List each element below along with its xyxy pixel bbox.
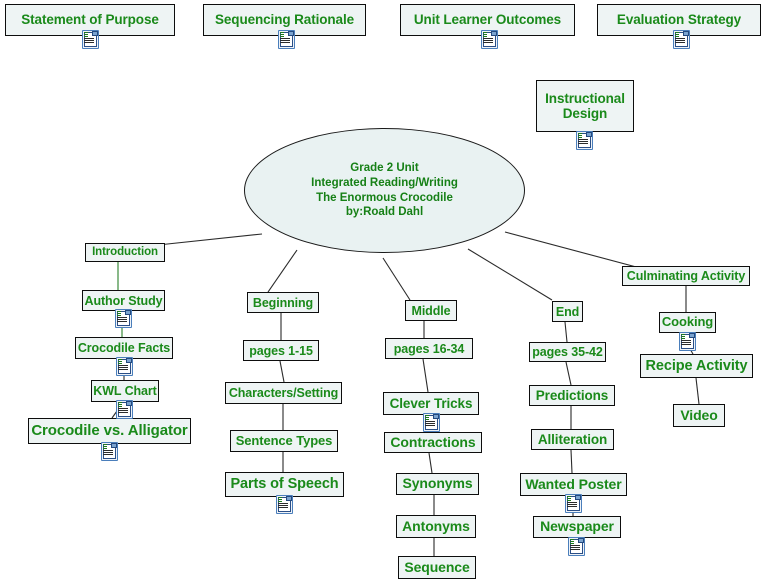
node-wanted-poster[interactable]: Wanted Poster — [520, 473, 627, 496]
node-antonyms[interactable]: Antonyms — [396, 515, 476, 538]
node-sentence-types[interactable]: Sentence Types — [230, 430, 338, 452]
document-icon[interactable] — [101, 442, 118, 461]
document-icon[interactable] — [276, 495, 293, 514]
central-topic-ellipse[interactable]: Grade 2 Unit Integrated Reading/Writing … — [244, 128, 525, 253]
node-instructional-design[interactable]: Instructional Design — [536, 80, 634, 132]
node-contractions[interactable]: Contractions — [384, 432, 482, 453]
node-crocodile-facts[interactable]: Crocodile Facts — [75, 337, 173, 359]
document-icon[interactable] — [82, 30, 99, 49]
node-newspaper[interactable]: Newspaper — [533, 516, 621, 538]
document-icon[interactable] — [679, 332, 696, 351]
document-icon[interactable] — [565, 494, 582, 513]
node-video[interactable]: Video — [673, 404, 725, 427]
document-icon[interactable] — [423, 413, 440, 432]
node-recipe-activity[interactable]: Recipe Activity — [640, 354, 753, 378]
node-end[interactable]: End — [552, 301, 583, 322]
node-cooking[interactable]: Cooking — [659, 312, 716, 333]
document-icon[interactable] — [116, 400, 133, 419]
node-pages-1-15[interactable]: pages 1-15 — [243, 340, 319, 361]
node-parts-of-speech[interactable]: Parts of Speech — [225, 472, 344, 497]
document-icon[interactable] — [481, 30, 498, 49]
node-middle[interactable]: Middle — [405, 300, 457, 321]
document-icon[interactable] — [278, 30, 295, 49]
node-predictions[interactable]: Predictions — [529, 385, 615, 406]
document-icon[interactable] — [115, 309, 132, 328]
document-icon[interactable] — [673, 30, 690, 49]
document-icon[interactable] — [116, 357, 133, 376]
node-introduction[interactable]: Introduction — [85, 243, 165, 262]
node-alliteration[interactable]: Alliteration — [531, 429, 614, 450]
node-characters-setting[interactable]: Characters/Setting — [225, 382, 342, 404]
document-icon[interactable] — [576, 131, 593, 150]
node-clever-tricks[interactable]: Clever Tricks — [383, 392, 479, 415]
node-crocodile-vs-alligator[interactable]: Crocodile vs. Alligator — [28, 418, 191, 444]
node-kwl-chart[interactable]: KWL Chart — [91, 380, 159, 402]
node-pages-16-34[interactable]: pages 16-34 — [385, 338, 473, 359]
document-icon[interactable] — [568, 537, 585, 556]
node-culminating-activity[interactable]: Culminating Activity — [622, 266, 750, 286]
node-sequence[interactable]: Sequence — [398, 556, 476, 579]
node-synonyms[interactable]: Synonyms — [396, 473, 479, 495]
concept-map-canvas: Statement of Purpose Sequencing Rational… — [0, 0, 765, 581]
node-author-study[interactable]: Author Study — [82, 290, 165, 311]
node-beginning[interactable]: Beginning — [247, 292, 319, 313]
node-pages-35-42[interactable]: pages 35-42 — [529, 342, 606, 362]
